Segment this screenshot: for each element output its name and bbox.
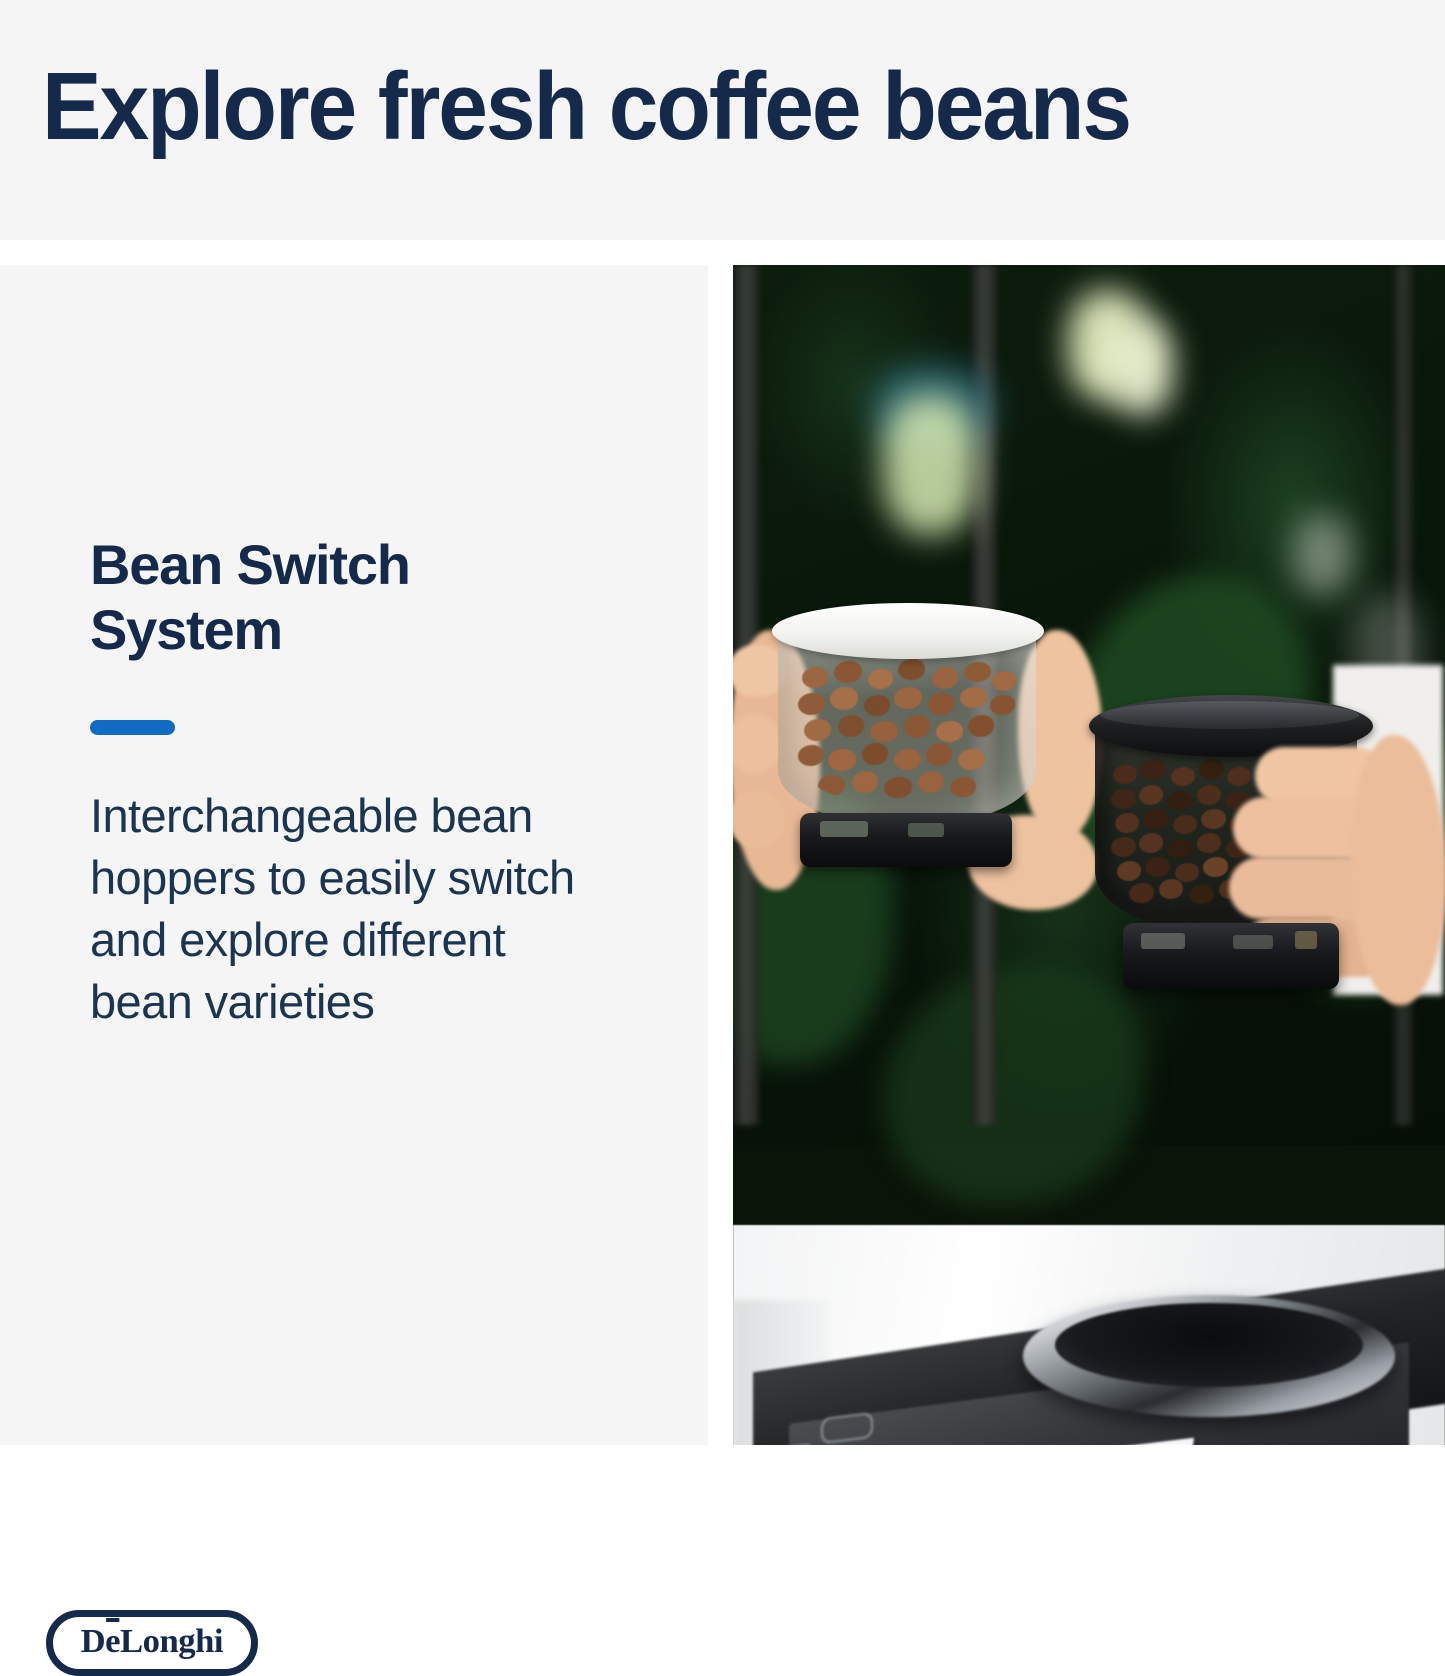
- delonghi-logo: DeLonghi: [46, 1610, 258, 1676]
- product-photo: [733, 265, 1445, 1445]
- delonghi-logo-text: DeLonghi: [81, 1623, 223, 1661]
- product-feature-card: Explore fresh coffee beans Bean Switch S…: [0, 0, 1445, 1445]
- window-highlight: [1293, 515, 1353, 595]
- grinder-socket-opening: [1055, 1303, 1363, 1387]
- right-hopper-base-detail: [1141, 933, 1185, 949]
- feature-description: Interchangeable bean hoppers to easily s…: [90, 785, 590, 1033]
- left-bean-hopper[interactable]: [758, 585, 1078, 885]
- feature-text-panel: Bean Switch System Interchangeable bean …: [0, 265, 708, 1445]
- window-highlight: [1113, 320, 1173, 415]
- window-highlight: [883, 395, 978, 535]
- left-hopper-lid[interactable]: [772, 603, 1044, 659]
- right-bean-hopper[interactable]: [1083, 675, 1423, 1015]
- left-hopper-base-detail: [820, 821, 868, 837]
- right-hopper-base-detail: [1233, 935, 1273, 949]
- logo-letter-e-macron: e: [105, 1623, 120, 1661]
- logo-letter-d: D: [81, 1623, 106, 1660]
- page-title: Explore fresh coffee beans: [42, 58, 1130, 156]
- header-band: Explore fresh coffee beans: [0, 0, 1445, 240]
- right-hopper-base-detail: [1295, 931, 1317, 949]
- feature-subtitle: Bean Switch System: [90, 533, 570, 663]
- logo-letters-longhi: Longhi: [120, 1623, 223, 1660]
- right-hopper-lid-rim: [1101, 701, 1359, 729]
- left-hopper-base-detail: [908, 823, 944, 837]
- accent-divider: [90, 720, 175, 735]
- light-roast-beans: [794, 657, 1020, 805]
